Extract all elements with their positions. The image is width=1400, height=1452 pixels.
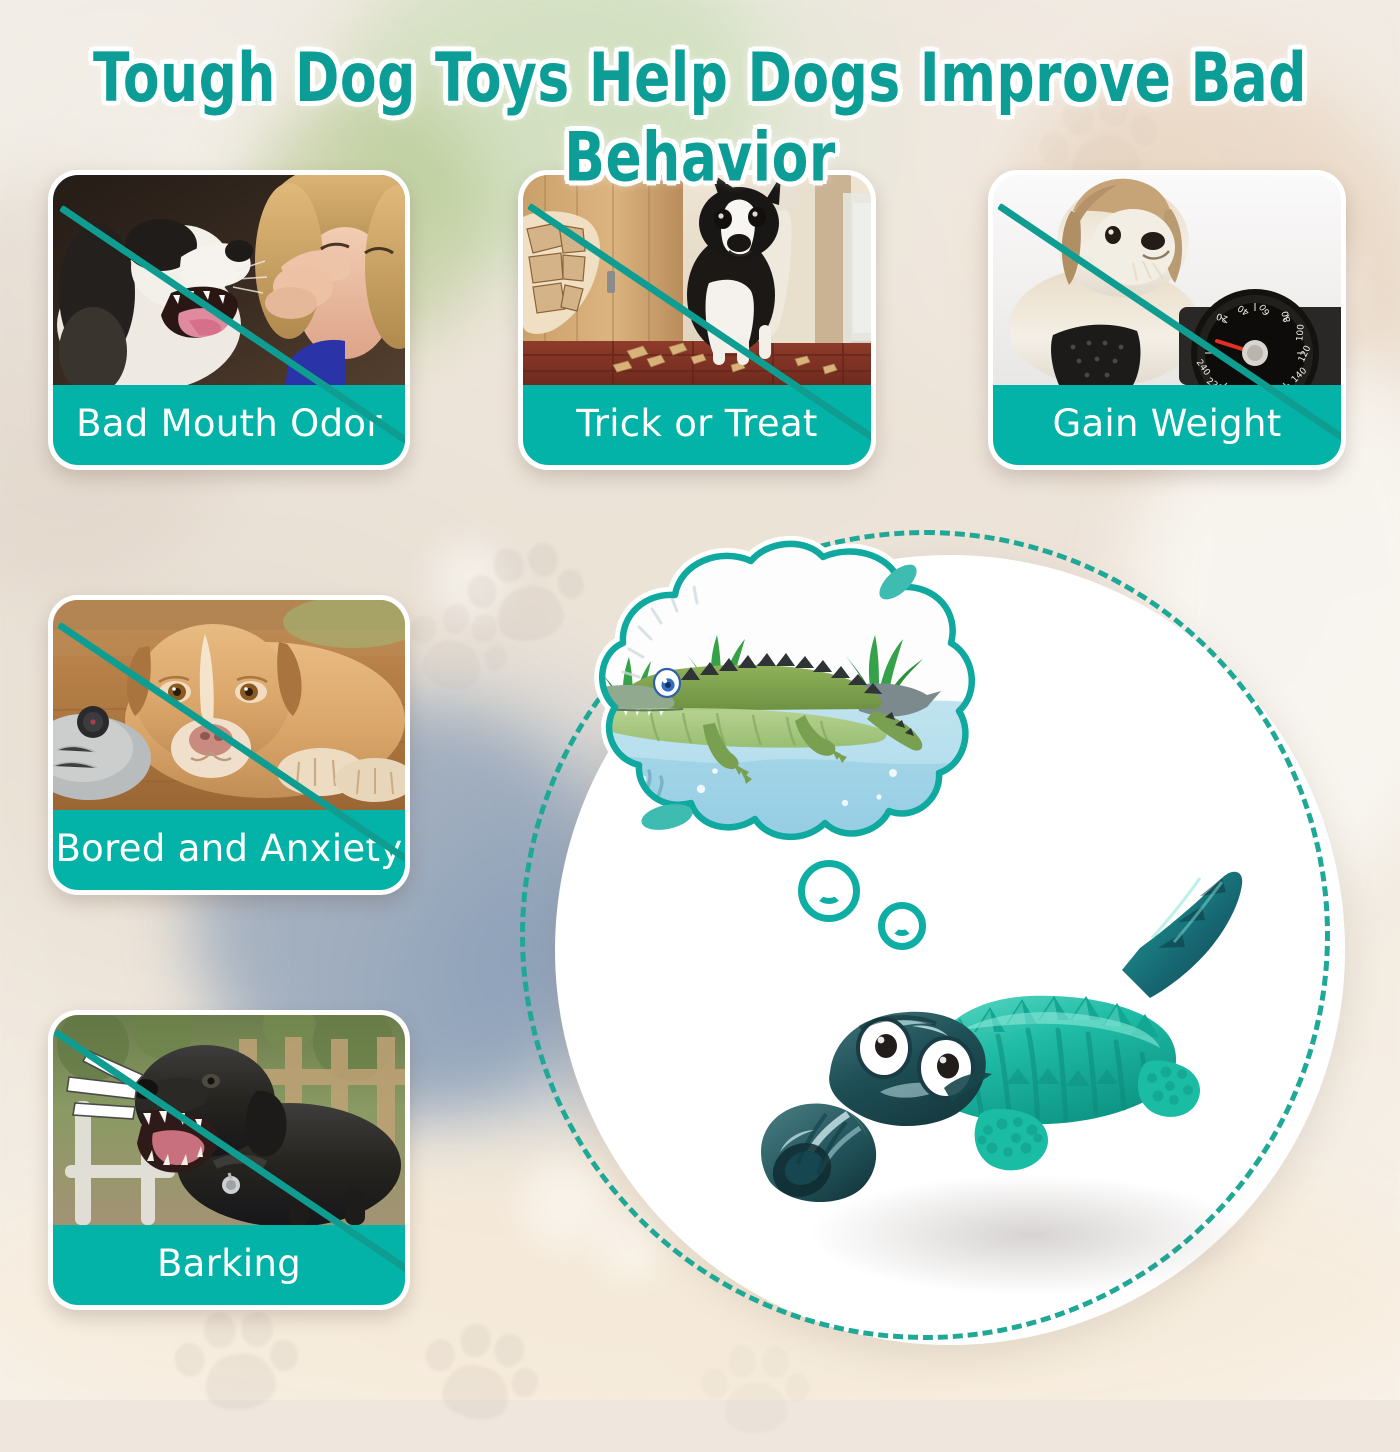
card-photo xyxy=(523,175,871,385)
photo-dog-chewed-door xyxy=(523,175,871,385)
photo-dog-bad-breath xyxy=(53,175,405,385)
card-barking[interactable]: Barking xyxy=(48,1010,410,1310)
svg-text:100: 100 xyxy=(1295,324,1306,342)
page-title-text: Tough Dog Toys Help Dogs Improve Bad Beh… xyxy=(7,38,1393,197)
card-label: Bad Mouth Odor xyxy=(53,385,405,465)
card-trick-or-treat[interactable]: Trick or Treat xyxy=(518,170,876,470)
card-photo: 20 40 60 80 100 120 140 160 180 200 220 … xyxy=(993,175,1341,385)
card-label-text: Trick or Treat xyxy=(576,402,818,445)
card-label-text: Barking xyxy=(157,1242,301,1285)
dream-thought-cloud xyxy=(555,535,985,865)
crocodile-chew-toy xyxy=(730,830,1290,1330)
card-label-text: Bad Mouth Odor xyxy=(76,402,382,445)
card-label: Barking xyxy=(53,1225,405,1305)
card-label-text: Gain Weight xyxy=(1052,402,1281,445)
photo-barking-dog xyxy=(53,1015,405,1225)
card-photo xyxy=(53,175,405,385)
card-bad-mouth-odor[interactable]: Bad Mouth Odor xyxy=(48,170,410,470)
toy-eye-left xyxy=(858,1019,910,1077)
card-gain-weight[interactable]: 20 40 60 80 100 120 140 160 180 200 220 … xyxy=(988,170,1346,470)
page-title: Tough Dog Toys Help Dogs Improve Bad Beh… xyxy=(0,38,1400,164)
card-label: Trick or Treat xyxy=(523,385,871,465)
photo-dog-on-scale: 20 40 60 80 100 120 140 160 180 200 220 … xyxy=(993,175,1341,385)
card-photo xyxy=(53,600,405,810)
card-label-text: Bored and Anxiety xyxy=(55,827,402,870)
dream-cloud-illustration xyxy=(555,535,985,865)
card-bored-and-anxiety[interactable]: Bored and Anxiety xyxy=(48,595,410,895)
product-showcase xyxy=(500,520,1330,1350)
card-photo xyxy=(53,1015,405,1225)
crocodile-toy-illustration xyxy=(730,830,1290,1330)
card-label: Gain Weight xyxy=(993,385,1341,465)
photo-bored-dog xyxy=(53,600,405,810)
card-label: Bored and Anxiety xyxy=(53,810,405,890)
toy-leg-rear xyxy=(1138,1060,1200,1117)
